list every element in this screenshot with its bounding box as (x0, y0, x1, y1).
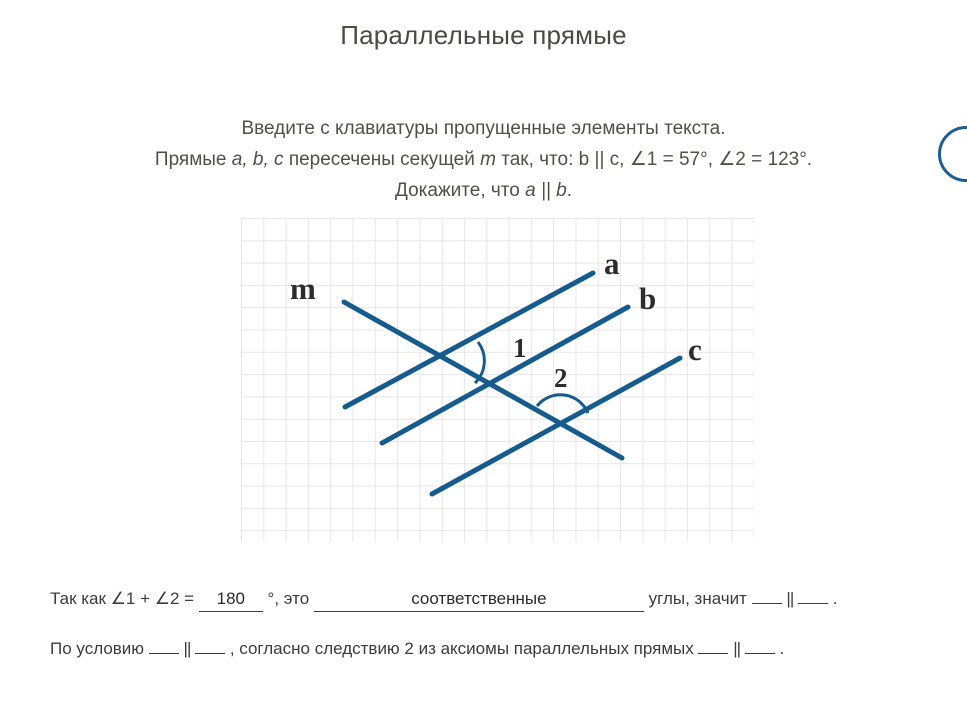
instruction-line-1: Введите с клавиатуры пропущенные элемент… (0, 113, 967, 144)
instruction-line-2: Прямые a, b, c пересечены секущей m так,… (0, 144, 967, 175)
label-c: c (688, 332, 702, 368)
label-b: b (639, 281, 656, 317)
answer2-text-3: . (780, 639, 785, 658)
answer1-kind-input[interactable]: соответственные (314, 588, 644, 612)
label-angle-2: 2 (554, 363, 568, 394)
instruction-line-3-part-a: Докажите, что (395, 180, 520, 201)
answer1-blank-right[interactable] (798, 603, 828, 604)
instruction-line-3: Докажите, что a || b. (0, 175, 967, 206)
answer2-parallel-symbol-1: || (184, 639, 191, 658)
instruction-line-2-transversal: m (480, 149, 496, 170)
answer2-text-1: По условию (50, 639, 144, 658)
label-m: m (290, 271, 316, 307)
instruction-line-2-part-a: Прямые (155, 149, 227, 170)
page-title: Параллельные прямые (0, 20, 967, 51)
answer1-text-1: Так как ∠1 + ∠2 = (50, 589, 194, 608)
line-b (382, 307, 628, 443)
answer2-parallel-symbol-2: || (733, 639, 740, 658)
label-angle-1: 1 (513, 333, 527, 364)
instruction-line-2-part-b: пересечены секущей (289, 149, 475, 170)
answer1-parallel-symbol: || (786, 589, 793, 608)
diagram-lines (241, 218, 754, 542)
label-a: a (604, 246, 620, 282)
instruction-line-2-variables: a, b, c (232, 149, 284, 170)
answer2-blank-3[interactable] (698, 653, 728, 654)
answer2-blank-1[interactable] (149, 653, 179, 654)
geometry-diagram: m a b c 1 2 (241, 218, 754, 542)
instruction-line-2-part-c: так, что: b || c, ∠1 = 57°, ∠2 = 123°. (501, 149, 812, 170)
instruction-block: Введите с клавиатуры пропущенные элемент… (0, 113, 967, 206)
answer1-sum-input[interactable]: 180 (199, 588, 263, 612)
answer1-blank-left[interactable] (752, 603, 782, 604)
answer2-text-2: , согласно следствию 2 из аксиомы паралл… (230, 639, 694, 658)
answer-sentence-1: Так как ∠1 + ∠2 = 180 °, это соответстве… (50, 588, 837, 612)
instruction-line-3-part-b: . (567, 180, 572, 201)
instruction-line-3-claim: a || b (525, 180, 567, 201)
answer1-text-2: °, это (268, 589, 310, 608)
answer1-text-3: углы, значит (649, 589, 747, 608)
answer2-blank-2[interactable] (195, 653, 225, 654)
answer-sentence-2: По условию || , согласно следствию 2 из … (50, 638, 784, 660)
answer1-text-4: . (833, 589, 838, 608)
line-m (344, 302, 622, 458)
answer2-blank-4[interactable] (745, 653, 775, 654)
